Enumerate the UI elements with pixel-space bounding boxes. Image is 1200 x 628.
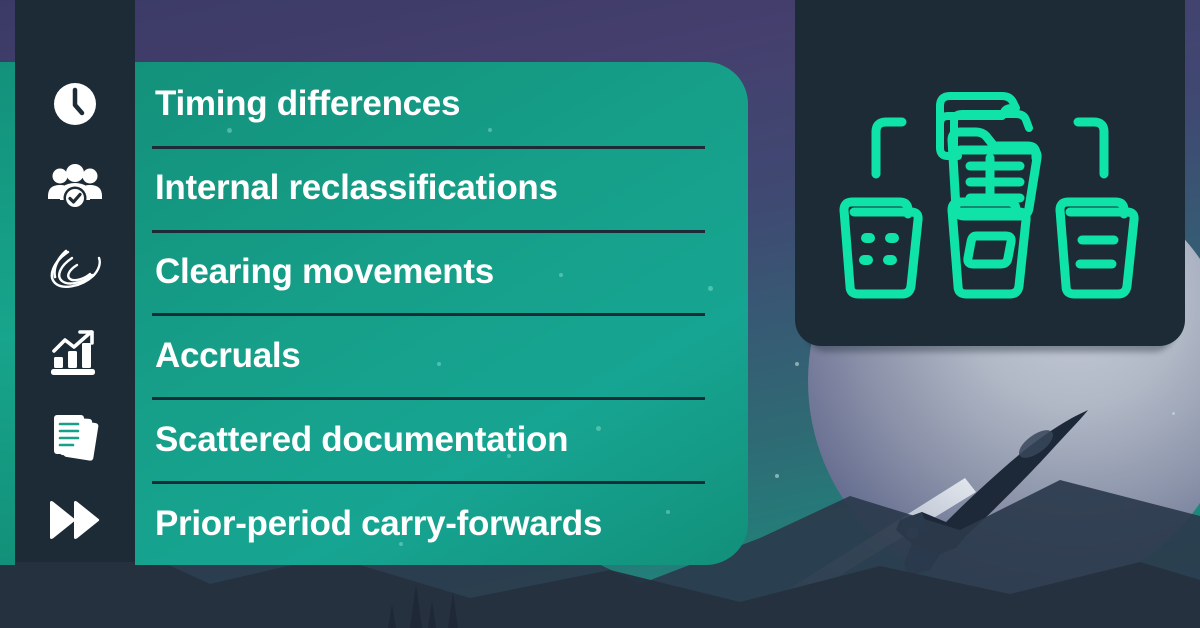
driver-row-3: Clearing movements [135,230,748,314]
fast-forward-icon [47,499,103,541]
rail-item-prior-period-carry-forwards [15,479,135,562]
growth-chart-icon [50,329,100,379]
left-accent-strip [0,62,15,565]
driver-row-1: Timing differences [135,62,748,146]
users-check-icon [47,163,103,211]
rail-item-clearing-movements [15,229,135,312]
drivers-list: Timing differences Internal reclassifica… [135,62,748,565]
driver-label: Prior-period carry-forwards [155,506,602,541]
driver-row-5: Scattered documentation [135,397,748,481]
drivers-card: Timing differences Internal reclassifica… [135,62,748,565]
child-2-frame [968,236,1011,264]
driver-row-6: Prior-period carry-forwards [135,481,748,565]
documents-icon [49,411,101,463]
child-1-body [844,210,918,294]
driver-row-4: Accruals [135,313,748,397]
rail-item-scattered-documentation [15,395,135,478]
folder-mid-tab [954,114,1029,128]
driver-label: Clearing movements [155,254,494,289]
connector-left-branch [876,122,902,174]
rail-item-timing-differences [15,62,135,145]
rail-item-internal-reclassifications [15,145,135,228]
driver-label: Internal reclassifications [155,170,558,205]
driver-label: Scattered documentation [155,422,568,457]
child-2-body [952,210,1026,294]
driver-row-2: Internal reclassifications [135,146,748,230]
rail-item-accruals [15,312,135,395]
swoosh-icon [47,247,103,293]
child-3-body [1060,210,1134,294]
driver-label: Timing differences [155,86,460,121]
poster-canvas: Timing differences Internal reclassifica… [0,0,1200,628]
icon-rail [15,0,135,562]
folder-hierarchy-icon [830,40,1150,320]
connector-right-branch [1078,122,1104,174]
child-1-dots [864,238,894,260]
clock-icon [51,80,99,128]
driver-label: Accruals [155,338,300,373]
icon-list [15,62,135,562]
